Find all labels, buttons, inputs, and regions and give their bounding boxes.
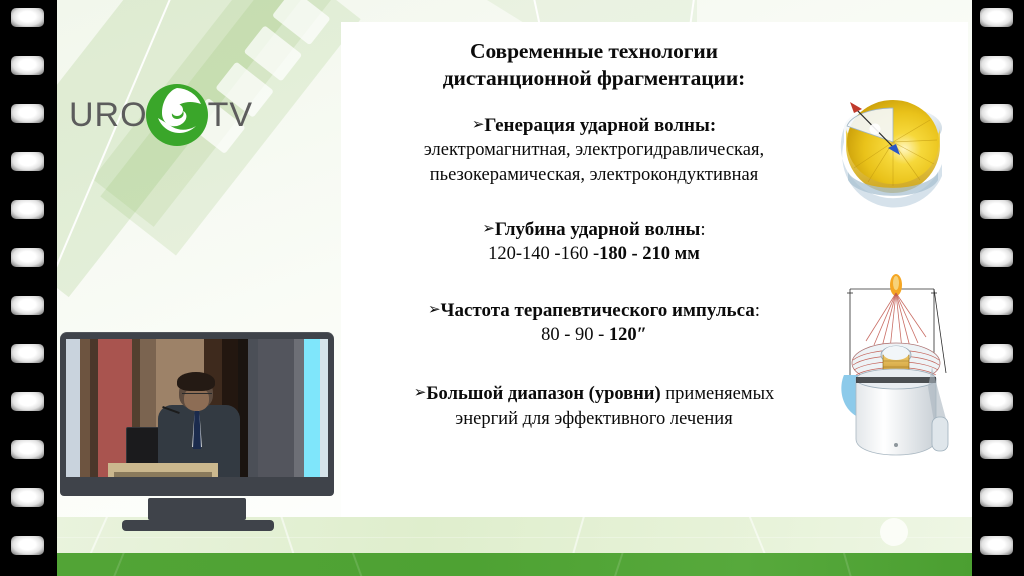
filmstrip-right [972, 0, 1024, 576]
bullet-3-heading-tail: : [755, 300, 760, 321]
slide-title-line-2: дистанционной фрагментации: [359, 65, 829, 92]
bullet-4-heading-tail: применяемых [661, 384, 775, 404]
bullet-2-value-bold: 180 - 210 мм [599, 244, 700, 264]
bullet-item-2: ➢Глубина ударной волны: 120-140 -160 -18… [359, 218, 829, 267]
bullet-1-heading: ➢Генерация ударной волны: [359, 114, 829, 138]
monitor-stand-base [122, 520, 274, 531]
filmstrip-sprocket-hole [11, 440, 44, 459]
leaf-swirl-emblem-icon [144, 82, 210, 148]
bullet-arrow-icon: ➢ [428, 300, 441, 318]
filmstrip-sprocket-hole [11, 488, 44, 507]
filmstrip-sprocket-hole [980, 8, 1013, 27]
filmstrip-sprocket-hole [11, 152, 44, 171]
bullet-1-heading-text: Генерация ударной волны: [484, 115, 716, 136]
logo-text-uro: URO [69, 98, 148, 132]
bullet-2-heading-text: Глубина ударной волны [495, 219, 700, 240]
bullet-arrow-icon: ➢ [472, 115, 485, 133]
bullet-4-line-1: энергий для эффективного лечения [359, 407, 829, 432]
monitor-bezel [60, 332, 334, 496]
bullet-4-heading-text: Большой диапазон (уровни) [426, 384, 660, 404]
filmstrip-sprocket-hole [11, 248, 44, 267]
speaker-glasses [182, 393, 212, 399]
footer-green-band [57, 553, 972, 576]
ellipsoid-reflector-diagram [834, 90, 954, 215]
filmstrip-sprocket-hole [11, 56, 44, 75]
filmstrip-sprocket-hole [980, 104, 1013, 123]
bullet-item-4: ➢Большой диапазон (уровни) применяемых э… [359, 382, 829, 432]
filmstrip-sprocket-hole [11, 104, 44, 123]
video-player[interactable] [66, 339, 328, 477]
filmstrip-sprocket-hole [980, 440, 1013, 459]
slide-title-line-1: Современные технологии [359, 38, 829, 65]
bullet-2-heading-tail: : [700, 219, 705, 240]
filmstrip-sprocket-hole [11, 200, 44, 219]
bullet-1-line-2: пьезокерамическая, электрокондуктивная [359, 163, 829, 188]
bullet-4-heading: ➢Большой диапазон (уровни) применяемых [359, 382, 829, 407]
bullet-arrow-icon: ➢ [414, 383, 427, 401]
filmstrip-sprocket-hole [11, 344, 44, 363]
filmstrip-sprocket-hole [11, 296, 44, 315]
podium-front [114, 472, 212, 477]
filmstrip-sprocket-hole [11, 8, 44, 27]
video-monitor [60, 332, 334, 522]
bullet-3-value-plain: 80 - 90 - [541, 325, 609, 345]
filmstrip-sprocket-hole [980, 392, 1013, 411]
screenshot-stage: URO TV Современные технологии дистанцион… [0, 0, 1024, 576]
bullet-3-value: 80 - 90 - 120″ [359, 323, 829, 348]
filmstrip-sprocket-hole [980, 344, 1013, 363]
filmstrip-sprocket-hole [11, 392, 44, 411]
bullet-2-heading: ➢Глубина ударной волны: [359, 218, 829, 242]
speaker-hair [177, 372, 215, 391]
uro-tv-logo: URO TV [76, 78, 246, 152]
bullet-item-3: ➢Частота терапевтического импульса: 80 -… [359, 299, 829, 348]
filmstrip-sprocket-hole [980, 56, 1013, 75]
presentation-slide: Современные технологии дистанционной фра… [341, 22, 968, 517]
bullet-item-1: ➢Генерация ударной волны: электромагнитн… [359, 114, 829, 188]
bullet-2-value-plain: 120-140 -160 - [488, 244, 599, 264]
filmstrip-sprocket-hole [980, 536, 1013, 555]
bullet-arrow-icon: ➢ [482, 219, 495, 237]
logo-text-tv: TV [208, 98, 253, 132]
filmstrip-sprocket-hole [980, 248, 1013, 267]
filmstrip-left [0, 0, 57, 576]
slide-text-column: Современные технологии дистанционной фра… [359, 38, 829, 432]
monitor-stand-neck [148, 498, 246, 520]
bullet-2-value: 120-140 -160 -180 - 210 мм [359, 242, 829, 267]
video-frame [66, 339, 328, 477]
filmstrip-sprocket-hole [980, 152, 1013, 171]
bullet-3-value-bold: 120″ [609, 325, 647, 345]
bullet-3-heading: ➢Частота терапевтического импульса: [359, 299, 829, 323]
slide-title: Современные технологии дистанционной фра… [359, 38, 829, 92]
filmstrip-sprocket-hole [11, 536, 44, 555]
bullet-1-line-1: электромагнитная, электрогидравлическая, [359, 138, 829, 163]
filmstrip-sprocket-hole [980, 296, 1013, 315]
filmstrip-sprocket-hole [980, 200, 1013, 219]
bullet-3-heading-text: Частота терапевтического импульса [441, 300, 755, 321]
footer-circle-accent [880, 518, 908, 546]
filmstrip-sprocket-hole [980, 488, 1013, 507]
lithotripsy-device-diagram [836, 267, 954, 467]
